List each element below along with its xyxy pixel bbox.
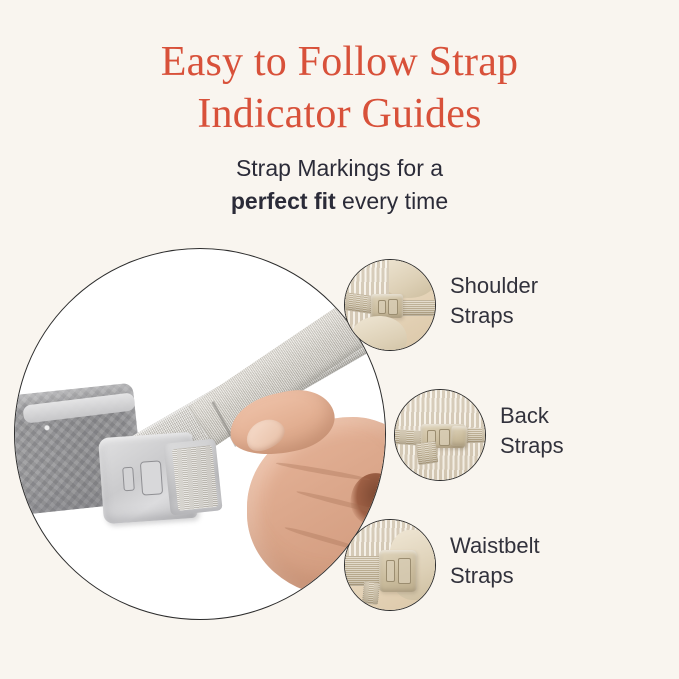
callout-label-shoulder: Shoulder Straps bbox=[450, 271, 538, 331]
back-strap-tail-graphic bbox=[416, 441, 439, 466]
shoulder-buckle-slot-graphic bbox=[378, 300, 386, 314]
subtitle-line-2: perfect fit every time bbox=[0, 185, 679, 218]
main-product-photo bbox=[14, 248, 386, 620]
buckle-slot-small-graphic bbox=[122, 467, 135, 492]
shoulder-buckle-slot-graphic bbox=[388, 299, 398, 315]
callout-label-waistbelt: Waistbelt Straps bbox=[450, 531, 540, 591]
callout-circle-waistbelt bbox=[344, 519, 436, 611]
infographic-page: Easy to Follow Strap Indicator Guides St… bbox=[0, 0, 679, 679]
callout-circle-back bbox=[394, 389, 486, 481]
waistbelt-buckle-slot-graphic bbox=[386, 560, 395, 582]
waistbelt-buckle-slot-graphic bbox=[398, 558, 411, 584]
thumbnail-graphic bbox=[241, 413, 289, 457]
callout-label-back: Back Straps bbox=[500, 401, 564, 461]
waistbelt-strap-tail-graphic bbox=[362, 581, 380, 605]
shoulder-strap-graphic bbox=[344, 292, 374, 314]
buckle-slot-large-graphic bbox=[140, 460, 163, 495]
buckle-webbing-graphic bbox=[172, 445, 218, 511]
back-buckle-slot-graphic bbox=[439, 429, 450, 446]
main-photo-art bbox=[15, 249, 385, 619]
page-subtitle: Strap Markings for a perfect fit every t… bbox=[0, 152, 679, 218]
back-buckle-tongue-graphic bbox=[450, 426, 467, 447]
subtitle-emphasis: perfect fit bbox=[231, 188, 336, 214]
page-title: Easy to Follow Strap Indicator Guides bbox=[0, 36, 679, 140]
callout-circle-shoulder bbox=[344, 259, 436, 351]
subtitle-tail: every time bbox=[336, 188, 448, 214]
subtitle-line-1: Strap Markings for a bbox=[0, 152, 679, 185]
shoulder-buckle-graphic bbox=[371, 294, 403, 318]
